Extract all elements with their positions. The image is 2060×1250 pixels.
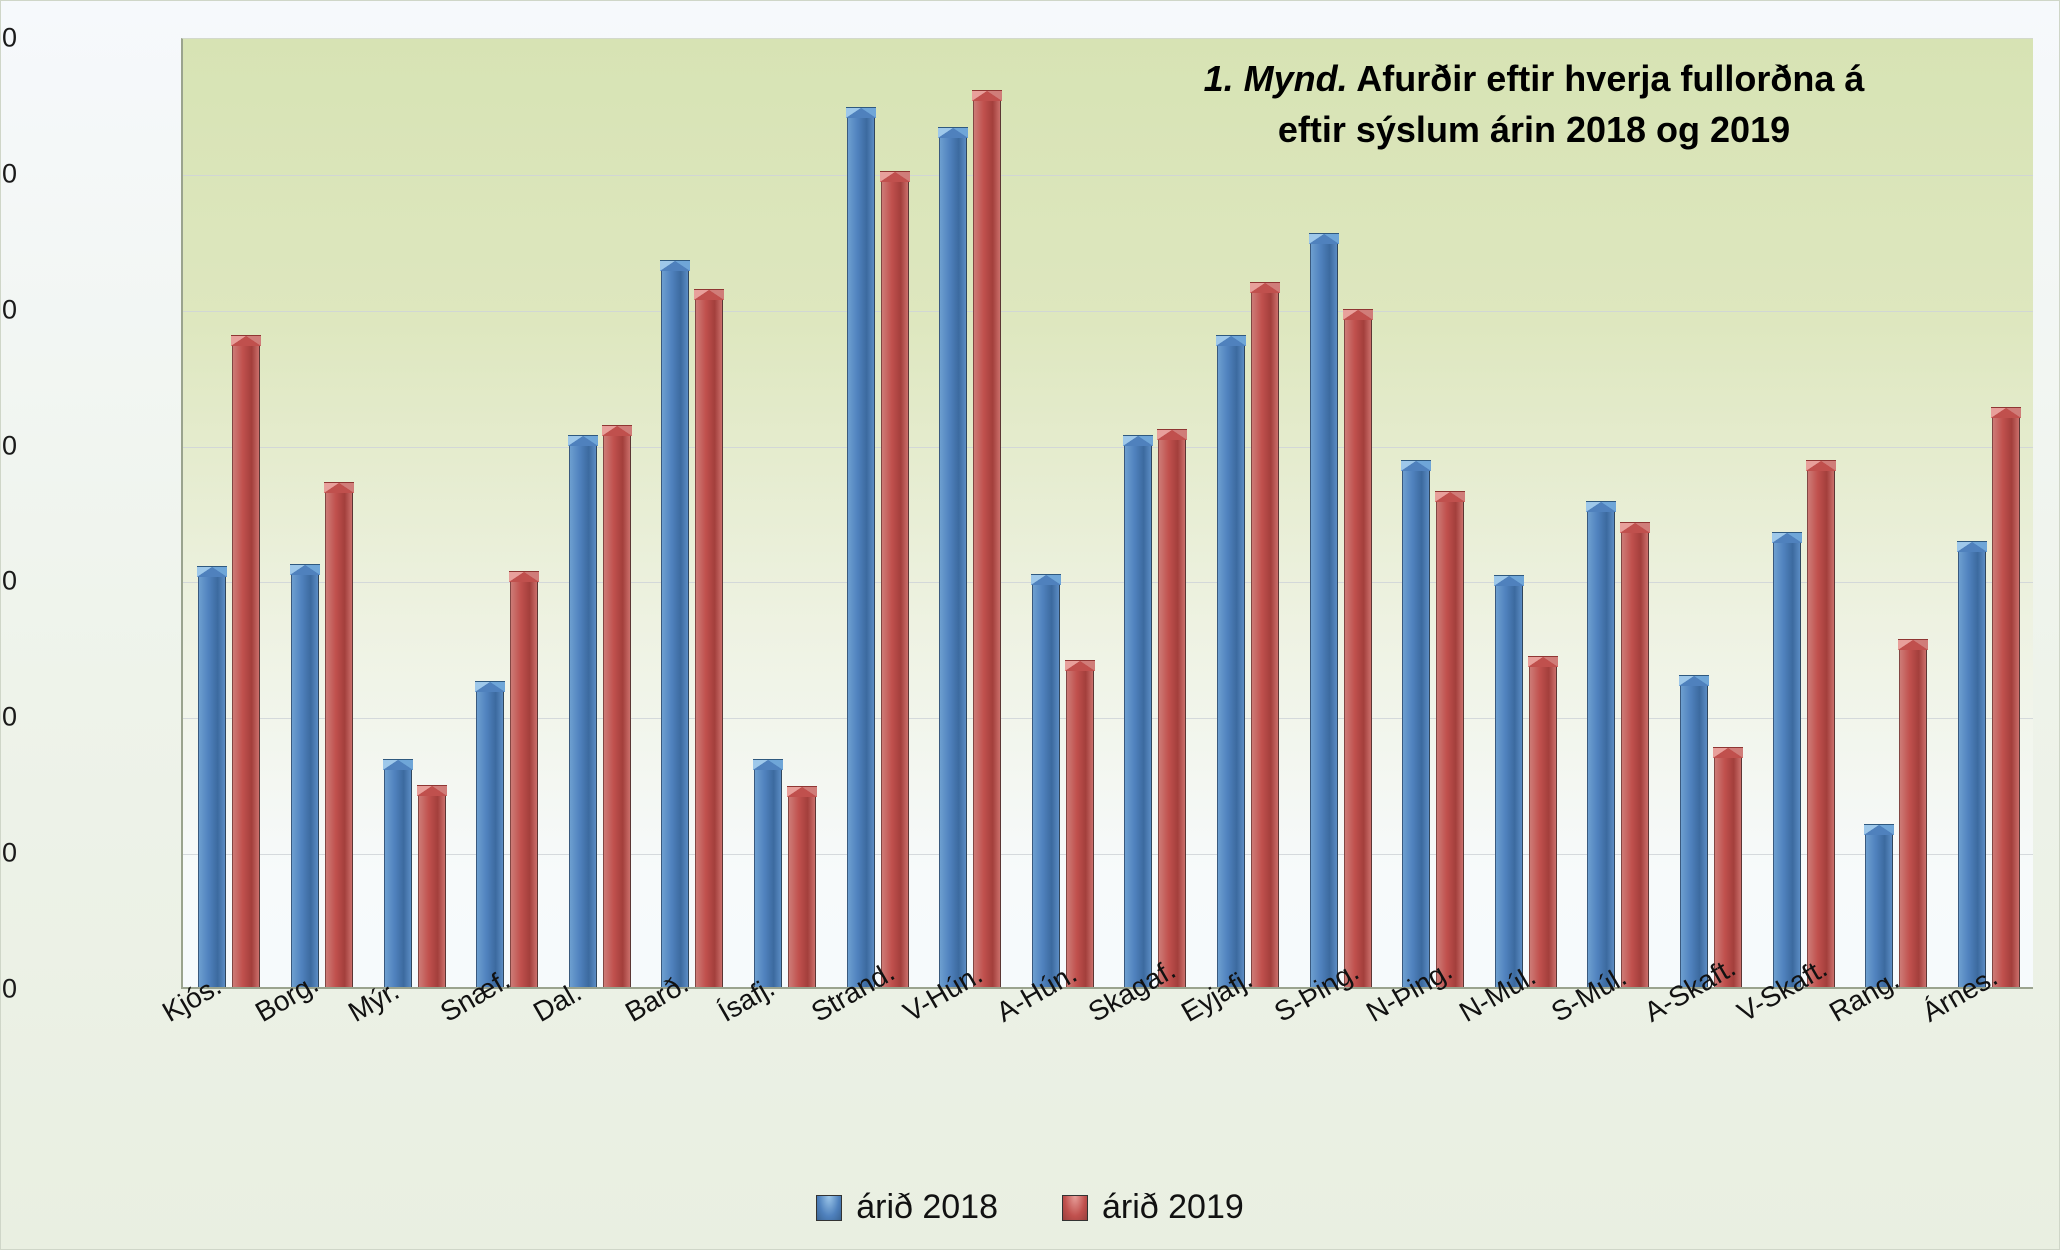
gridline: [183, 854, 2033, 855]
bar-cap: [509, 571, 539, 582]
bar-2019: [1714, 747, 1742, 987]
bar-2018: [1495, 575, 1523, 987]
bar-cap: [1309, 233, 1339, 244]
bar-body: [1344, 318, 1372, 987]
bar-body: [476, 690, 504, 987]
bar-body: [695, 298, 723, 987]
bar-2018: [754, 759, 782, 987]
chart-legend: árið 2018árið 2019: [1, 1188, 2059, 1227]
bar-body: [847, 116, 875, 987]
bar-body: [325, 491, 353, 987]
bar-2019: [788, 786, 816, 987]
bar-cap: [1123, 435, 1153, 446]
bar-body: [1587, 510, 1615, 987]
bar-body: [510, 580, 538, 987]
bar-2019: [1992, 407, 2020, 987]
legend-item-s2018[interactable]: árið 2018: [816, 1188, 998, 1227]
bar-body: [1158, 438, 1186, 987]
bar-body: [973, 99, 1001, 987]
bar-2019: [232, 335, 260, 987]
bar-body: [1217, 344, 1245, 987]
bar-body: [418, 794, 446, 987]
bar-body: [1680, 684, 1708, 987]
bar-cap: [1586, 501, 1616, 512]
bar-2019: [1066, 660, 1094, 987]
bar-2018: [1217, 335, 1245, 987]
bar-body: [1807, 469, 1835, 987]
chart-title-prefix: 1. Mynd.: [1204, 58, 1348, 99]
bar-cap: [475, 681, 505, 692]
bar-cap: [787, 786, 817, 797]
bar-2018: [1587, 501, 1615, 987]
bar-cap: [694, 289, 724, 300]
bar-2018: [1310, 233, 1338, 987]
bar-body: [1714, 756, 1742, 987]
bar-2019: [973, 90, 1001, 987]
bar-body: [1992, 416, 2020, 987]
bar-body: [198, 575, 226, 987]
bar-body: [1310, 242, 1338, 987]
y-axis-tick-label: 24,0: [0, 974, 17, 1005]
bar-2019: [1529, 656, 1557, 987]
bar-2019: [1621, 522, 1649, 987]
bar-2018: [1402, 460, 1430, 987]
bar-2018: [1680, 675, 1708, 987]
bar-2019: [1158, 429, 1186, 987]
bar-2019: [1251, 282, 1279, 987]
bar-2018: [847, 107, 875, 987]
bar-body: [1773, 541, 1801, 987]
bar-cap: [1898, 639, 1928, 650]
bar-cap: [231, 335, 261, 346]
bar-cap: [417, 785, 447, 796]
y-axis-tick-label: 29,0: [0, 294, 17, 325]
bar-body: [1032, 583, 1060, 987]
bar-2018: [1124, 435, 1152, 987]
bar-cap: [938, 127, 968, 138]
legend-swatch-icon: [1062, 1195, 1088, 1221]
bar-cap: [1864, 824, 1894, 835]
legend-swatch-icon: [816, 1195, 842, 1221]
gridline: [183, 582, 2033, 583]
bar-cap: [1528, 656, 1558, 667]
bar-cap: [846, 107, 876, 118]
plot-area: [181, 38, 2033, 989]
bar-cap: [1806, 460, 1836, 471]
bar-cap: [602, 425, 632, 436]
bar-2019: [603, 425, 631, 987]
gridline: [183, 175, 2033, 176]
bar-body: [569, 444, 597, 987]
bar-cap: [660, 260, 690, 271]
bar-cap: [1031, 574, 1061, 585]
bar-cap: [1713, 747, 1743, 758]
y-axis-tick-label: 28,0: [0, 430, 17, 461]
bar-2019: [325, 482, 353, 987]
chart-container: 31,030,029,028,027,026,025,024,0 kg pr. …: [0, 0, 2060, 1250]
bar-body: [661, 269, 689, 987]
bar-body: [1066, 669, 1094, 987]
y-axis-tick-label: 27,0: [0, 566, 17, 597]
bar-body: [1436, 500, 1464, 987]
bar-cap: [1216, 335, 1246, 346]
bar-2018: [939, 127, 967, 987]
bar-2019: [1344, 309, 1372, 987]
chart-title-line2: eftir sýslum árin 2018 og 2019: [1278, 109, 1790, 150]
bar-body: [939, 136, 967, 987]
y-axis-tick-label: 31,0: [0, 23, 17, 54]
bar-body: [1899, 648, 1927, 987]
chart-title-line1: Afurðir eftir hverja fullorðna á: [1348, 58, 1865, 99]
bar-cap: [1991, 407, 2021, 418]
bar-cap: [1250, 282, 1280, 293]
bar-cap: [753, 759, 783, 770]
bar-2018: [1865, 824, 1893, 987]
bar-cap: [1772, 532, 1802, 543]
y-axis-tick-label: 25,0: [0, 838, 17, 869]
bar-cap: [1401, 460, 1431, 471]
bar-2019: [881, 171, 909, 988]
bar-body: [232, 344, 260, 987]
bar-body: [754, 768, 782, 987]
bar-2019: [418, 785, 446, 987]
gridline: [183, 447, 2033, 448]
bar-body: [291, 573, 319, 987]
bar-2018: [476, 681, 504, 987]
bar-body: [1529, 665, 1557, 987]
bar-body: [1495, 584, 1523, 987]
bar-cap: [568, 435, 598, 446]
bar-2019: [1899, 639, 1927, 987]
bar-cap: [1620, 522, 1650, 533]
bar-cap: [972, 90, 1002, 101]
chart-title: 1. Mynd. Afurðir eftir hverja fullorðna …: [1069, 53, 1999, 155]
bar-2019: [695, 289, 723, 987]
bar-body: [1621, 531, 1649, 987]
bar-cap: [880, 171, 910, 182]
bar-2019: [1807, 460, 1835, 987]
bar-cap: [383, 759, 413, 770]
bar-cap: [197, 566, 227, 577]
bar-2018: [1032, 574, 1060, 987]
legend-label: árið 2019: [1102, 1188, 1244, 1227]
bar-2018: [384, 759, 412, 987]
bar-body: [788, 795, 816, 987]
bar-cap: [1157, 429, 1187, 440]
legend-label: árið 2018: [856, 1188, 998, 1227]
y-axis-tick-label: 26,0: [0, 702, 17, 733]
bar-body: [1251, 291, 1279, 987]
legend-item-s2019[interactable]: árið 2019: [1062, 1188, 1244, 1227]
bar-2018: [291, 564, 319, 987]
bar-body: [1958, 550, 1986, 987]
bar-cap: [1957, 541, 1987, 552]
bar-cap: [290, 564, 320, 575]
bar-cap: [1679, 675, 1709, 686]
bar-cap: [1435, 491, 1465, 502]
bar-body: [1124, 444, 1152, 987]
bar-2018: [1958, 541, 1986, 987]
bar-2018: [569, 435, 597, 987]
bar-body: [603, 434, 631, 987]
bar-2019: [1436, 491, 1464, 987]
gridline: [183, 718, 2033, 719]
bar-2018: [661, 260, 689, 987]
y-axis-tick-label: 30,0: [0, 158, 17, 189]
bar-body: [1402, 469, 1430, 987]
gridline: [183, 311, 2033, 312]
bar-cap: [324, 482, 354, 493]
bar-2018: [198, 566, 226, 987]
bar-body: [881, 180, 909, 988]
bar-2019: [510, 571, 538, 987]
bar-cap: [1065, 660, 1095, 671]
bar-cap: [1343, 309, 1373, 320]
bar-2018: [1773, 532, 1801, 987]
bar-cap: [1494, 575, 1524, 586]
bar-body: [384, 768, 412, 987]
